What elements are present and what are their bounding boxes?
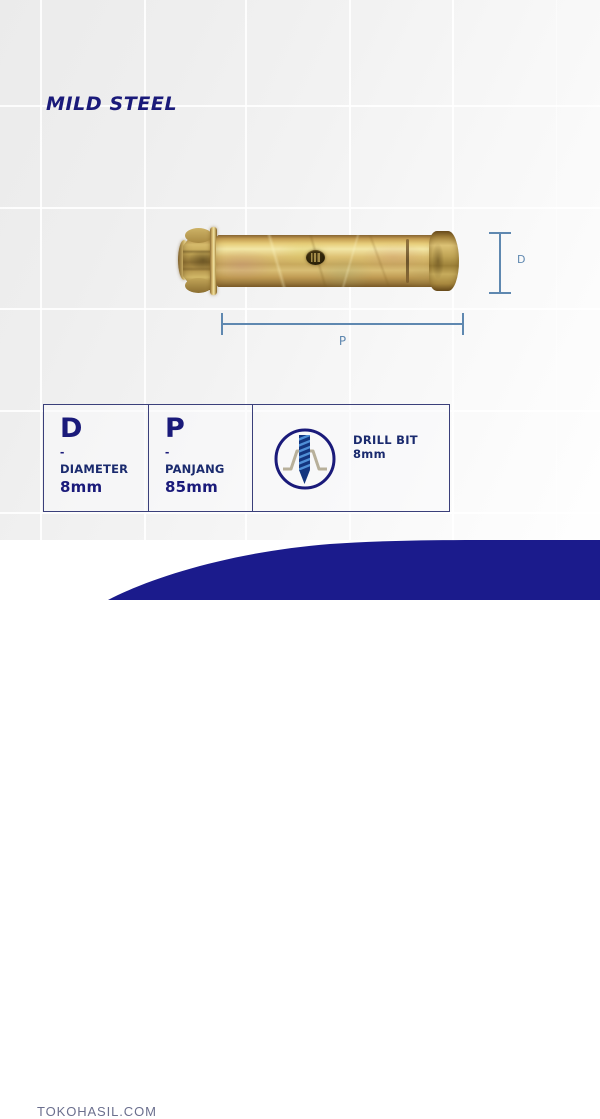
spec-symbol-d: D (60, 415, 148, 442)
whatsapp-contact[interactable]: 0811-3536-689 (427, 1103, 565, 1119)
footer-bar: TOKOHASIL.COM HASILFASTINDO 0811-3536-68… (0, 540, 600, 600)
diameter-dimension-line: D (487, 232, 513, 294)
footer-navy-shape (0, 540, 600, 600)
diameter-dimension-label: D (517, 253, 525, 266)
anchor-sleeve-body (216, 235, 434, 287)
spec-cell-drill-bit: DRILL BIT 8mm (252, 405, 449, 511)
expansion-slot (406, 239, 409, 283)
instagram-icon (262, 1103, 278, 1119)
drill-bit-icon (273, 427, 337, 491)
spec-cell-panjang: P - PANJANG 85mm (148, 405, 252, 511)
spec-sheet-canvas: MILD STEEL D P D - (0, 0, 600, 600)
length-dimension-label: P (221, 334, 464, 348)
product-image-sleeve-anchor-bolt (178, 222, 478, 304)
flared-end-cap (429, 231, 459, 291)
spec-value-diameter: 8mm (60, 478, 148, 498)
spec-cell-diameter: D - DIAMETER 8mm (44, 405, 148, 511)
spec-label-diameter: DIAMETER (60, 461, 148, 478)
spec-label-panjang: PANJANG (165, 461, 252, 478)
spec-symbol-p: P (165, 415, 252, 442)
hex-nut-top-cap (185, 228, 212, 243)
website-url[interactable]: TOKOHASIL.COM (37, 1104, 157, 1119)
drill-bit-label: DRILL BIT 8mm (353, 433, 449, 461)
sleeve-stamp-mark (306, 250, 325, 265)
whatsapp-icon (427, 1103, 443, 1119)
hex-nut-bottom-cap (185, 278, 212, 293)
whatsapp-number: 0811-3536-689 (450, 1104, 565, 1119)
spec-value-panjang: 85mm (165, 478, 252, 498)
spec-dash-p: - (165, 445, 252, 458)
spec-dash-d: - (60, 445, 148, 458)
specification-table: D - DIAMETER 8mm P - PANJANG 85mm (43, 404, 450, 512)
instagram-contact[interactable]: HASILFASTINDO (262, 1103, 406, 1119)
length-dimension-line: P (221, 312, 464, 338)
instagram-handle: HASILFASTINDO (285, 1104, 406, 1119)
page-title: MILD STEEL (46, 93, 177, 115)
